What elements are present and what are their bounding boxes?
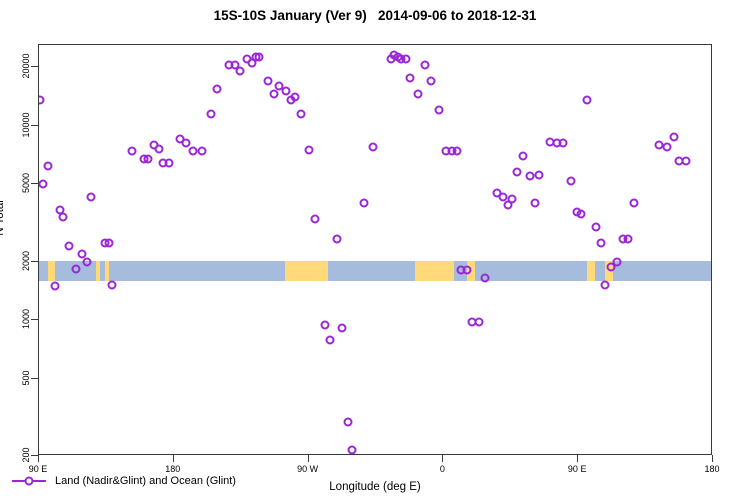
legend-item-label: Land (Nadir&Glint) and Ocean (Glint) [55,475,236,487]
scatter-point [127,147,136,156]
scatter-point [481,273,490,282]
scatter-point [39,180,48,189]
figure-canvas: 15S-10S January (Ver 9) 2014-09-06 to 20… [0,0,750,500]
scatter-point [421,61,430,70]
x-tick [308,455,309,462]
scatter-point [508,194,517,203]
scatter-point [413,90,422,99]
x-tick [442,455,443,462]
scatter-point [369,142,378,151]
scatter-point [596,238,605,247]
scatter-point [297,109,306,118]
scatter-point [434,106,443,115]
surface-segment-land [415,261,454,281]
y-tick [31,183,38,184]
scatter-point [291,93,300,102]
y-tick [31,378,38,379]
surface-segment-ocean [613,261,712,281]
y-tick [31,319,38,320]
scatter-point [401,55,410,64]
scatter-point [181,139,190,148]
x-tick [173,455,174,462]
scatter-point [566,176,575,185]
scatter-point [629,199,638,208]
scatter-point [51,281,60,290]
x-tick-label: 0 [440,464,445,474]
surface-segment-land [285,261,328,281]
scatter-point [189,147,198,156]
scatter-point [165,159,174,168]
scatter-point [406,74,415,83]
scatter-point [144,155,153,164]
scatter-point [108,280,117,289]
x-tick [712,455,713,462]
scatter-point [577,210,586,219]
scatter-point [154,144,163,153]
scatter-point [310,215,319,224]
page-title: 15S-10S January (Ver 9) 2014-09-06 to 20… [0,8,750,23]
scatter-point [198,147,207,156]
scatter-point [64,242,73,251]
plot-area [38,44,712,455]
y-tick-label: 2000 [21,251,31,271]
y-tick [31,455,38,456]
x-tick-label: 90 W [297,464,318,474]
scatter-point [38,96,45,105]
y-tick-label: 500 [21,370,31,385]
scatter-point [58,212,67,221]
scatter-point [270,90,279,99]
surface-segment-ocean [109,261,284,281]
scatter-point [255,53,264,62]
scatter-point [213,84,222,93]
y-tick-label: 200 [21,447,31,462]
surface-segment-ocean [595,261,605,281]
scatter-point [343,417,352,426]
scatter-point [613,257,622,266]
x-tick-label: 180 [704,464,719,474]
scatter-point [475,317,484,326]
scatter-point [105,238,114,247]
y-tick-label: 20000 [21,54,31,79]
scatter-point [452,147,461,156]
scatter-point [282,87,291,96]
scatter-point [670,133,679,142]
scatter-point [360,199,369,208]
scatter-point [87,192,96,201]
surface-segment-ocean [475,261,587,281]
x-tick-label: 90 E [568,464,587,474]
y-axis-label: N Total [0,200,6,236]
scatter-point [43,162,52,171]
scatter-point [682,156,691,165]
scatter-point [304,145,313,154]
scatter-point [559,139,568,148]
x-tick [577,455,578,462]
scatter-point [662,142,671,151]
scatter-point [518,151,527,160]
y-tick-label: 10000 [21,112,31,137]
scatter-point [601,280,610,289]
scatter-point [333,235,342,244]
surface-segment-ocean [39,261,48,281]
scatter-point [264,76,273,85]
y-tick [31,125,38,126]
y-tick-label: 1000 [21,309,31,329]
scatter-point [526,172,535,181]
scatter-point [337,324,346,333]
scatter-point [348,445,357,454]
surface-segment-ocean [328,261,415,281]
scatter-point [321,321,330,330]
scatter-point [623,235,632,244]
scatter-point [512,167,521,176]
scatter-point [235,67,244,76]
legend-marker-icon [12,475,46,487]
scatter-point [72,264,81,273]
y-tick [31,66,38,67]
scatter-point [207,109,216,118]
y-tick [31,261,38,262]
surface-segment-land [48,261,55,281]
surface-segment-land [587,261,594,281]
legend: Land (Nadir&Glint) and Ocean (Glint) [6,468,242,494]
scatter-point [463,266,472,275]
scatter-point [427,76,436,85]
x-tick [38,455,39,462]
scatter-point [530,199,539,208]
scatter-point [325,336,334,345]
scatter-point [82,257,91,266]
y-tick-label: 5000 [21,173,31,193]
scatter-point [583,96,592,105]
scatter-point [535,170,544,179]
scatter-point [592,223,601,232]
